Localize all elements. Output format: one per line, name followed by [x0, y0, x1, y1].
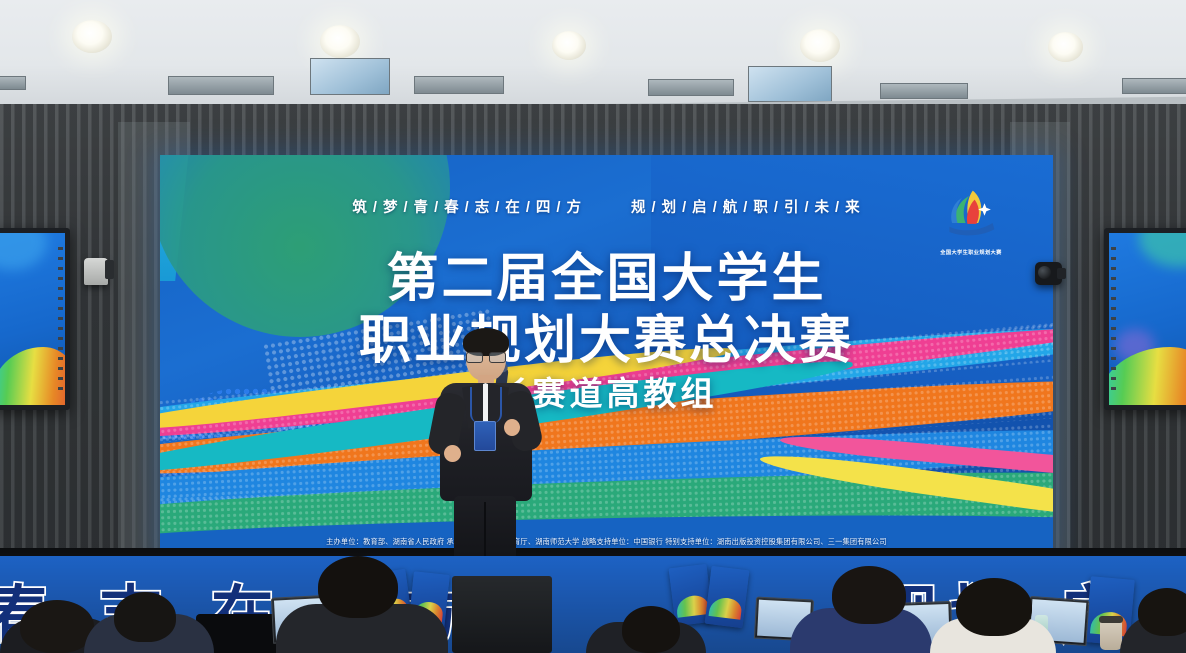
logo-caption: 全国大学生职业规划大赛	[933, 249, 1009, 256]
audience-head	[832, 566, 906, 624]
led-tagline: 筑 / 梦 / 青 / 春 / 志 / 在 / 四 / 方 规 / 划 / 启 …	[160, 196, 1053, 217]
table-placard	[705, 566, 750, 628]
ceiling-downlight	[72, 20, 112, 53]
wall-loudspeaker	[84, 258, 108, 285]
ceiling-vent	[880, 83, 968, 99]
speaker-trousers	[454, 496, 516, 561]
speaker-hand-left	[444, 445, 461, 462]
audience-head	[114, 592, 176, 642]
speaker-person	[430, 333, 540, 561]
monitor-button-strip[interactable]	[1111, 247, 1116, 391]
ceiling-downlight	[800, 29, 840, 62]
led-video-wall: 筑 / 梦 / 青 / 春 / 志 / 在 / 四 / 方 规 / 划 / 启 …	[160, 155, 1053, 557]
eyeglasses-icon	[466, 352, 506, 362]
ceiling	[0, 0, 1186, 118]
audience-head	[318, 556, 398, 618]
monitor-wave-graphic	[0, 347, 65, 405]
left-wall-monitor	[0, 228, 70, 410]
audience-head	[1138, 588, 1186, 636]
audience-head	[20, 600, 94, 653]
conference-hall-scene: 筑 / 梦 / 青 / 春 / 志 / 在 / 四 / 方 规 / 划 / 启 …	[0, 0, 1186, 653]
ceiling-vent	[648, 79, 734, 96]
ceiling-diffuser	[310, 58, 390, 95]
ceiling-downlight	[552, 31, 586, 60]
ceiling-vent	[168, 76, 274, 95]
ceiling-downlight	[1048, 32, 1083, 62]
audience-head	[622, 606, 680, 653]
sponsor-credits: 主办单位：教育部、湖南省人民政府 承办单位：湖南省教育厅、湖南师范大学 战略支持…	[160, 537, 1053, 547]
judge-monitor-back	[452, 576, 552, 653]
left-monitor-screen	[0, 233, 65, 405]
right-monitor-screen	[1109, 233, 1186, 405]
ceiling-vent	[1122, 78, 1186, 94]
competition-logo: 全国大学生职业规划大赛	[933, 187, 1009, 265]
ceiling-diffuser	[748, 66, 832, 102]
right-wall-monitor	[1104, 228, 1186, 410]
credential-badge	[474, 421, 496, 451]
led-title-line-2: 职业规划大赛总决赛	[160, 315, 1053, 367]
monitor-glow	[1139, 233, 1186, 267]
ceiling-vent	[414, 76, 504, 94]
tagline-left: 筑 / 梦 / 青 / 春 / 志 / 在 / 四 / 方	[352, 200, 582, 216]
led-title-line-1: 第二届全国大学生	[160, 253, 1053, 305]
ptz-camera	[1035, 262, 1062, 285]
tagline-right: 规 / 划 / 启 / 航 / 职 / 引 / 未 / 来	[631, 200, 861, 216]
ceiling-vent	[0, 76, 26, 90]
logo-sail-icon	[939, 187, 1003, 241]
monitor-glow	[0, 233, 47, 270]
lanyard-strap	[470, 387, 502, 423]
led-green-circle	[160, 155, 450, 337]
monitor-button-strip[interactable]	[58, 247, 63, 391]
led-title-line-3: 长赛道高教组	[160, 377, 1053, 410]
ceiling-downlight	[320, 25, 360, 58]
audience-head	[956, 578, 1032, 636]
speaker-hand-right	[504, 419, 520, 436]
coffee-cup	[1100, 620, 1122, 650]
